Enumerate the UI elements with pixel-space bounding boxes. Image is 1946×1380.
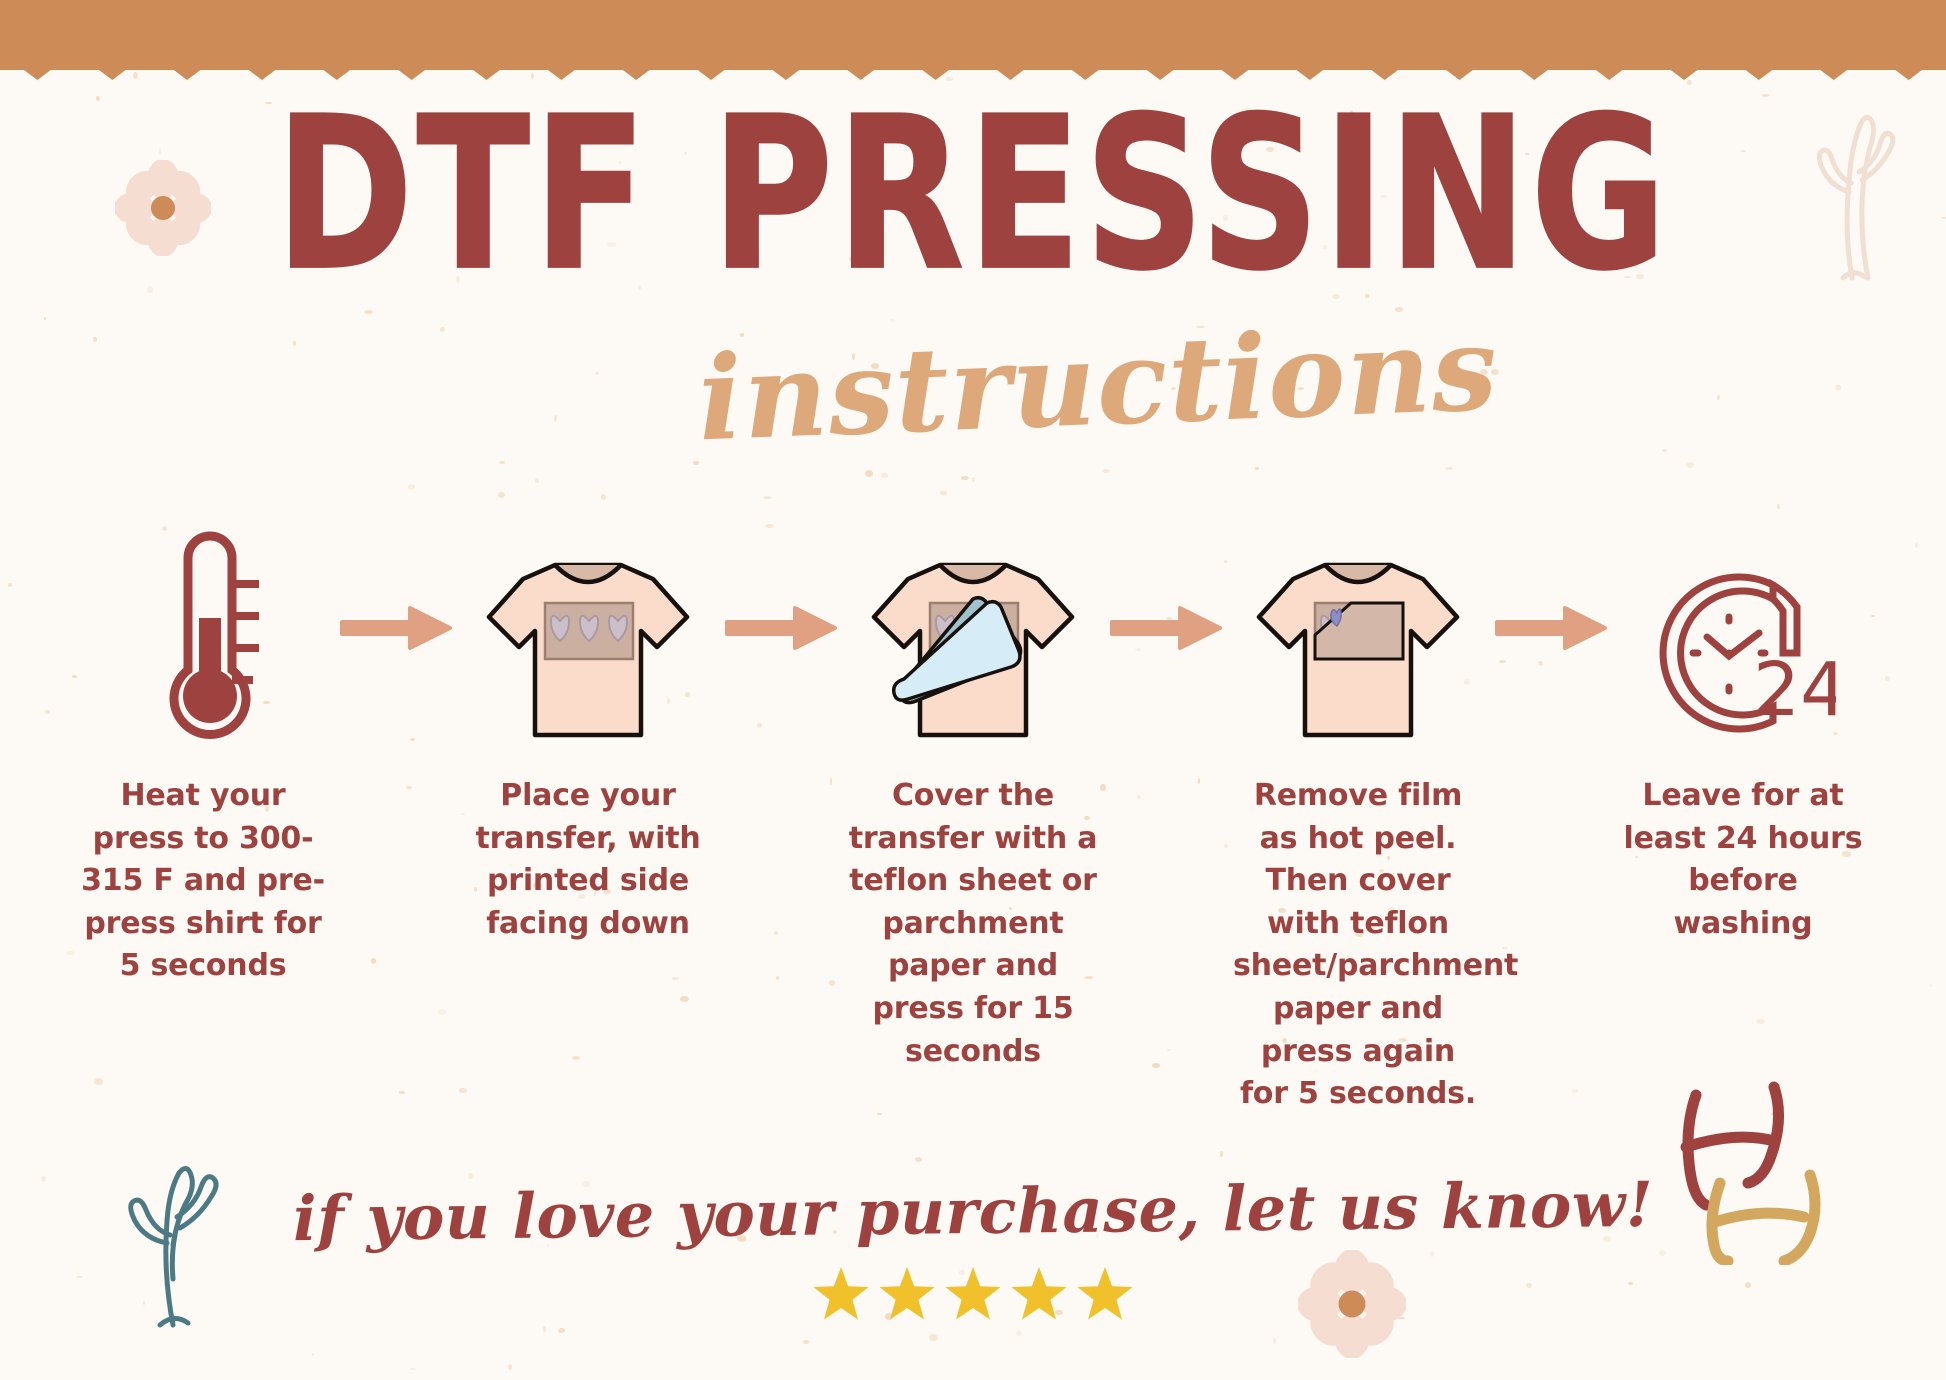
step-4-icon-slot (1231, 530, 1486, 745)
tagline-text: if you love your purchase, let us know! (292, 1168, 1653, 1255)
step-3-text: Cover the transfer with a teflon sheet o… (848, 775, 1098, 1073)
step-4-text: Remove film as hot peel. Then cover with… (1233, 775, 1483, 1116)
arrow-4 (1486, 530, 1616, 745)
step-4: Remove film as hot peel. Then cover with… (1231, 530, 1486, 1116)
arrow-1 (331, 530, 461, 745)
page-title: DTF PRESSING (0, 92, 1946, 266)
step-5-icon-slot: 24 (1616, 530, 1871, 745)
arrow-right-icon (340, 606, 452, 650)
step-2-icon-slot (461, 530, 716, 745)
arrow-right-icon (1110, 606, 1222, 650)
star-icon (1008, 1265, 1070, 1325)
step-3: Cover the transfer with a teflon sheet o… (846, 530, 1101, 1073)
poster-canvas: DTF PRESSING instructions (0, 0, 1946, 1380)
tshirt-with-teflon-sheet-icon (868, 555, 1078, 745)
steps-row: Heat your press to 300-315 F and pre-pre… (0, 530, 1946, 1116)
step-1: Heat your press to 300-315 F and pre-pre… (76, 530, 331, 988)
tshirt-peeling-film-icon (1253, 555, 1463, 745)
step-1-icon-slot (76, 530, 331, 745)
clock-24-label: 24 (1753, 647, 1836, 733)
subtitle-text: instructions (696, 311, 1500, 458)
step-2-text: Place your transfer, with printed side f… (463, 775, 713, 945)
thermometer-icon (133, 530, 273, 745)
star-icon (876, 1265, 938, 1325)
star-rating (0, 1265, 1946, 1325)
step-1-text: Heat your press to 300-315 F and pre-pre… (78, 775, 328, 988)
arrow-right-icon (1495, 606, 1607, 650)
arrow-3 (1101, 530, 1231, 745)
step-5: 24 Leave for at least 24 hours before wa… (1616, 530, 1871, 945)
title-text: DTF PRESSING (68, 92, 1878, 298)
step-5-text: Leave for at least 24 hours before washi… (1618, 775, 1868, 945)
star-icon (1074, 1265, 1136, 1325)
footer-tagline: if you love your purchase, let us know! (0, 1175, 1946, 1248)
clock-24-icon: 24 (1651, 555, 1836, 745)
step-2: Place your transfer, with printed side f… (461, 530, 716, 945)
page-subtitle: instructions (0, 326, 1946, 442)
arrow-2 (716, 530, 846, 745)
star-icon (942, 1265, 1004, 1325)
tshirt-with-transfer-icon (483, 555, 693, 745)
step-3-icon-slot (846, 530, 1101, 745)
star-icon (810, 1265, 872, 1325)
arrow-right-icon (725, 606, 837, 650)
